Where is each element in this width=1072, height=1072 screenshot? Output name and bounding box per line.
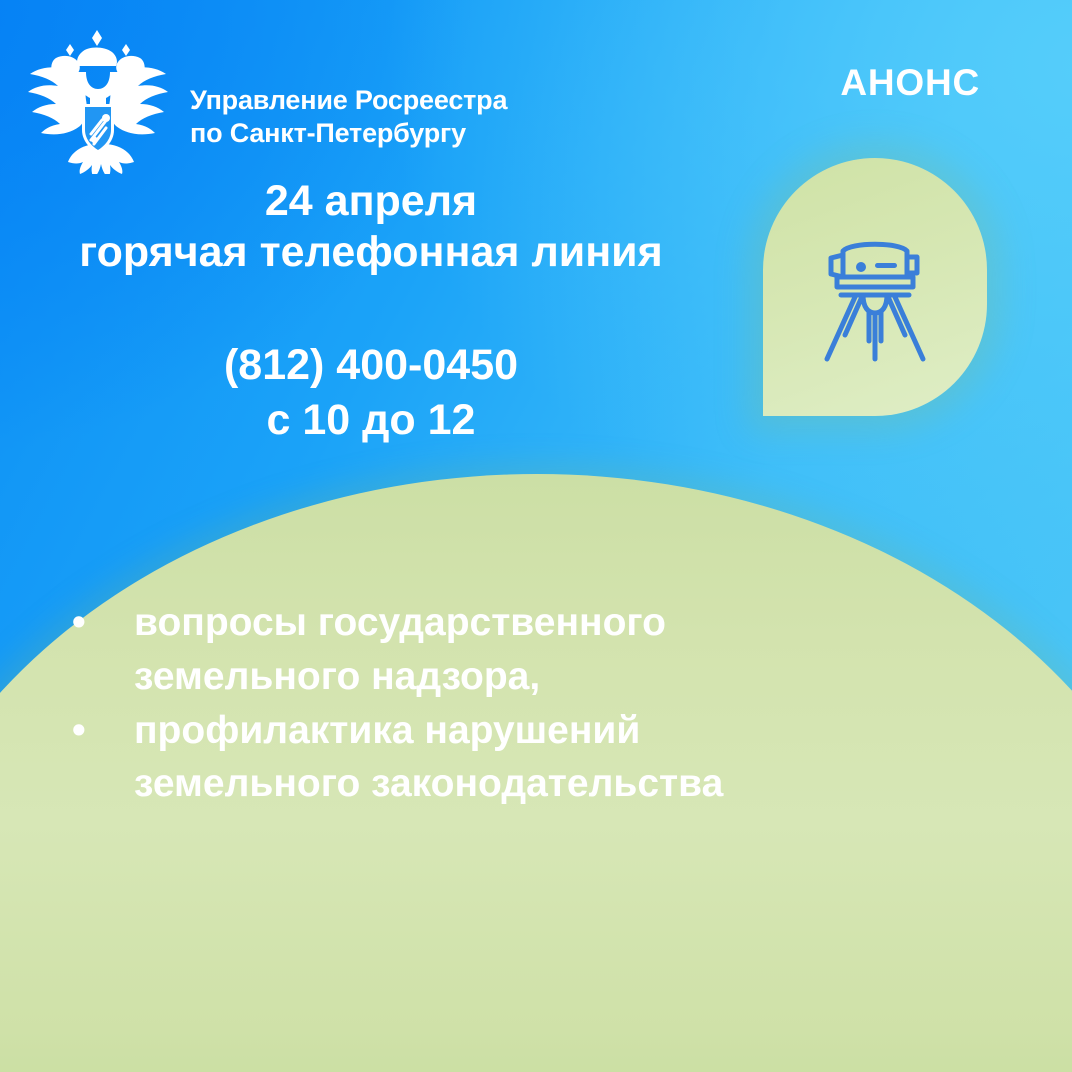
poster-canvas: Управление Росреестра по Санкт-Петербург…	[0, 0, 1072, 1072]
bullet-dot-icon: •	[62, 704, 134, 758]
list-item-label: вопросы государственного земельного надз…	[134, 596, 892, 704]
bullet-dot-icon: •	[62, 596, 134, 650]
brand-header: Управление Росреестра по Санкт-Петербург…	[22, 22, 507, 174]
announcement-kicker-label: АНОНС	[840, 62, 980, 104]
headline-block: 24 апреля горячая телефонная линия	[0, 176, 1072, 277]
list-item-label: профилактика нарушений земельного законо…	[134, 704, 892, 812]
hotline-phone-number[interactable]: (812) 400-0450	[0, 338, 742, 393]
event-date: 24 апреля	[0, 176, 1072, 227]
list-item: • профилактика нарушений земельного зако…	[62, 704, 892, 812]
contact-block: (812) 400-0450 с 10 до 12	[0, 338, 1072, 448]
list-item: • вопросы государственного земельного на…	[62, 596, 892, 704]
organization-name: Управление Росреестра по Санкт-Петербург…	[190, 46, 507, 150]
hotline-hours: с 10 до 12	[0, 393, 742, 448]
rosreestr-eagle-logo-icon	[22, 22, 174, 174]
topics-list: • вопросы государственного земельного на…	[62, 596, 892, 811]
event-title: горячая телефонная линия	[0, 227, 1072, 278]
